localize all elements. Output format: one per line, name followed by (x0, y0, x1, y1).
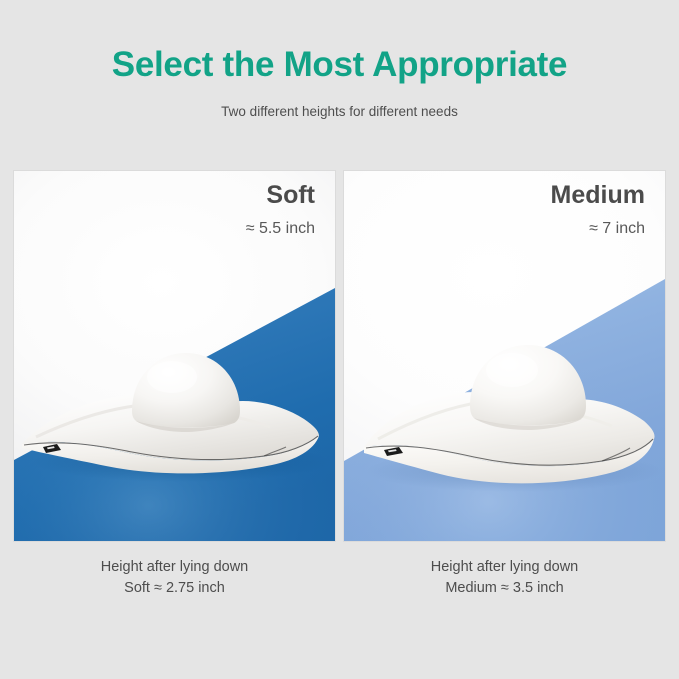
panel-soft-height: ≈ 5.5 inch (246, 211, 315, 239)
caption-medium: Height after lying down Medium ≈ 3.5 inc… (344, 557, 665, 599)
caption-medium-line2: Medium ≈ 3.5 inch (344, 578, 665, 599)
caption-soft-line2: Soft ≈ 2.75 inch (14, 578, 335, 599)
panel-soft-label: Soft (246, 179, 315, 211)
page-title: Select the Most Appropriate (0, 44, 679, 86)
comparison-panels: Soft ≈ 5.5 inch (14, 171, 665, 541)
caption-soft-line1: Height after lying down (14, 557, 335, 578)
panel-medium-heading: Medium ≈ 7 inch (551, 171, 665, 239)
panel-soft[interactable]: Soft ≈ 5.5 inch (14, 171, 335, 541)
caption-medium-line1: Height after lying down (344, 557, 665, 578)
panel-captions: Height after lying down Soft ≈ 2.75 inch… (14, 557, 665, 599)
panel-medium-height: ≈ 7 inch (551, 211, 645, 239)
page-header: Select the Most Appropriate Two differen… (0, 0, 679, 120)
panel-soft-heading: Soft ≈ 5.5 inch (246, 171, 335, 239)
panel-medium[interactable]: Medium ≈ 7 inch (344, 171, 665, 541)
panel-medium-label: Medium (551, 179, 645, 211)
caption-soft: Height after lying down Soft ≈ 2.75 inch (14, 557, 335, 599)
page-subtitle: Two different heights for different need… (0, 86, 679, 120)
